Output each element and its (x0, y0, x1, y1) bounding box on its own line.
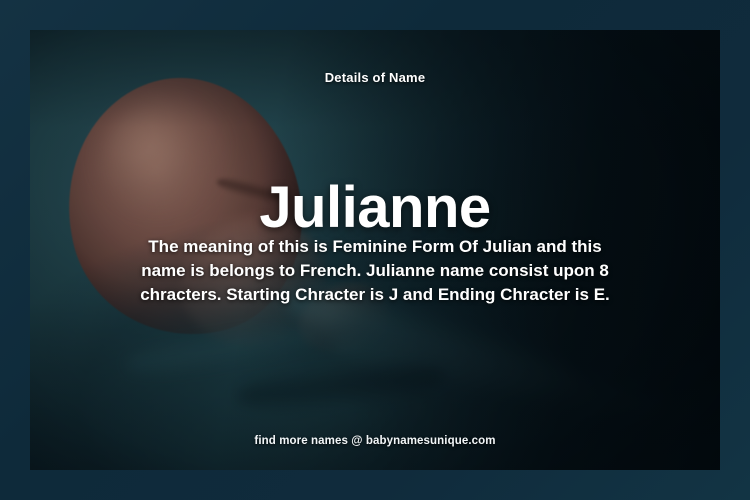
card-content: Details of Name Julianne The meaning of … (30, 30, 720, 470)
site-attribution-footer: find more names @ babynamesunique.com (30, 435, 720, 447)
photo-card: Details of Name Julianne The meaning of … (30, 30, 720, 470)
card-eyebrow-label: Details of Name (30, 70, 720, 85)
name-meaning-description: The meaning of this is Feminine Form Of … (125, 235, 625, 307)
baby-name-card: Details of Name Julianne The meaning of … (0, 0, 750, 500)
baby-name-title: Julianne (30, 175, 720, 241)
